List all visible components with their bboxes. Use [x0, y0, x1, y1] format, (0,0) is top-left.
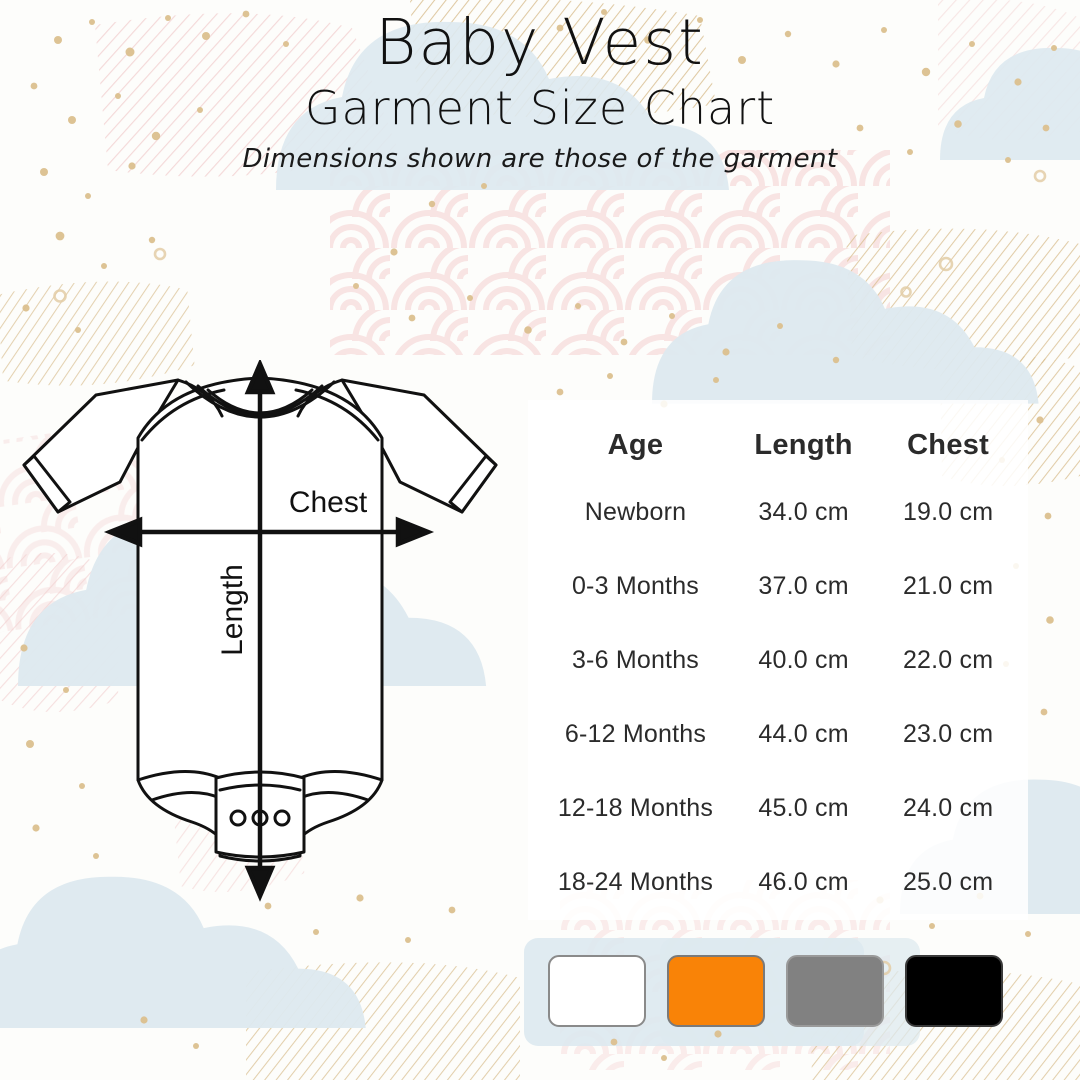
swatch-white[interactable]	[548, 955, 646, 1027]
cell-length: 37.0 cm	[731, 549, 876, 623]
swatch-grey[interactable]	[786, 955, 884, 1027]
cell-length: 45.0 cm	[731, 771, 876, 845]
table-row: 18-24 Months 46.0 cm 25.0 cm	[540, 845, 1020, 919]
length-arrow-head-bottom	[248, 868, 272, 896]
cell-length: 44.0 cm	[731, 697, 876, 771]
colour-swatch-strip	[548, 955, 1018, 1029]
chest-arrow-head-left	[110, 520, 140, 544]
cell-chest: 23.0 cm	[876, 697, 1020, 771]
cell-age: 6-12 Months	[540, 697, 731, 771]
cell-length: 46.0 cm	[731, 845, 876, 919]
page-title: Baby Vest	[0, 8, 1080, 79]
swatch-orange[interactable]	[667, 955, 765, 1027]
cell-chest: 24.0 cm	[876, 771, 1020, 845]
table-row: Newborn 34.0 cm 19.0 cm	[540, 475, 1020, 549]
cell-length: 40.0 cm	[731, 623, 876, 697]
cell-chest: 22.0 cm	[876, 623, 1020, 697]
snap-button-1	[231, 811, 245, 825]
cell-age: 18-24 Months	[540, 845, 731, 919]
page-header: Baby Vest Garment Size Chart Dimensions …	[0, 0, 1080, 174]
cell-chest: 19.0 cm	[876, 475, 1020, 549]
table-row: 0-3 Months 37.0 cm 21.0 cm	[540, 549, 1020, 623]
column-header-age: Age	[540, 415, 731, 475]
column-header-chest: Chest	[876, 415, 1020, 475]
size-table: Age Length Chest Newborn 34.0 cm 19.0 cm…	[540, 415, 1020, 919]
cell-age: 3-6 Months	[540, 623, 731, 697]
swatch-black[interactable]	[905, 955, 1003, 1027]
arch-pattern-top	[330, 150, 890, 355]
table-header-row: Age Length Chest	[540, 415, 1020, 475]
page-tagline: Dimensions shown are those of the garmen…	[0, 144, 1080, 174]
garment-illustration: Chest Length	[10, 360, 550, 910]
cell-chest: 21.0 cm	[876, 549, 1020, 623]
length-arrow-head-top	[248, 364, 272, 392]
column-header-length: Length	[731, 415, 876, 475]
gold-hatch-bottom-left	[246, 962, 520, 1080]
cell-age: Newborn	[540, 475, 731, 549]
chest-label: Chest	[289, 486, 368, 519]
baby-vest-drawing: Chest Length	[10, 360, 550, 910]
table-row: 3-6 Months 40.0 cm 22.0 cm	[540, 623, 1020, 697]
snap-button-3	[275, 811, 289, 825]
table-row: 12-18 Months 45.0 cm 24.0 cm	[540, 771, 1020, 845]
cell-age: 12-18 Months	[540, 771, 731, 845]
chest-arrow-head-right	[398, 520, 428, 544]
size-chart-page: Baby Vest Garment Size Chart Dimensions …	[0, 0, 1080, 1080]
page-subtitle: Garment Size Chart	[0, 83, 1080, 135]
gold-hatch-top-right	[846, 229, 1080, 370]
cell-age: 0-3 Months	[540, 549, 731, 623]
cell-chest: 25.0 cm	[876, 845, 1020, 919]
length-label: Length	[216, 564, 249, 656]
cell-length: 34.0 cm	[731, 475, 876, 549]
table-row: 6-12 Months 44.0 cm 23.0 cm	[540, 697, 1020, 771]
